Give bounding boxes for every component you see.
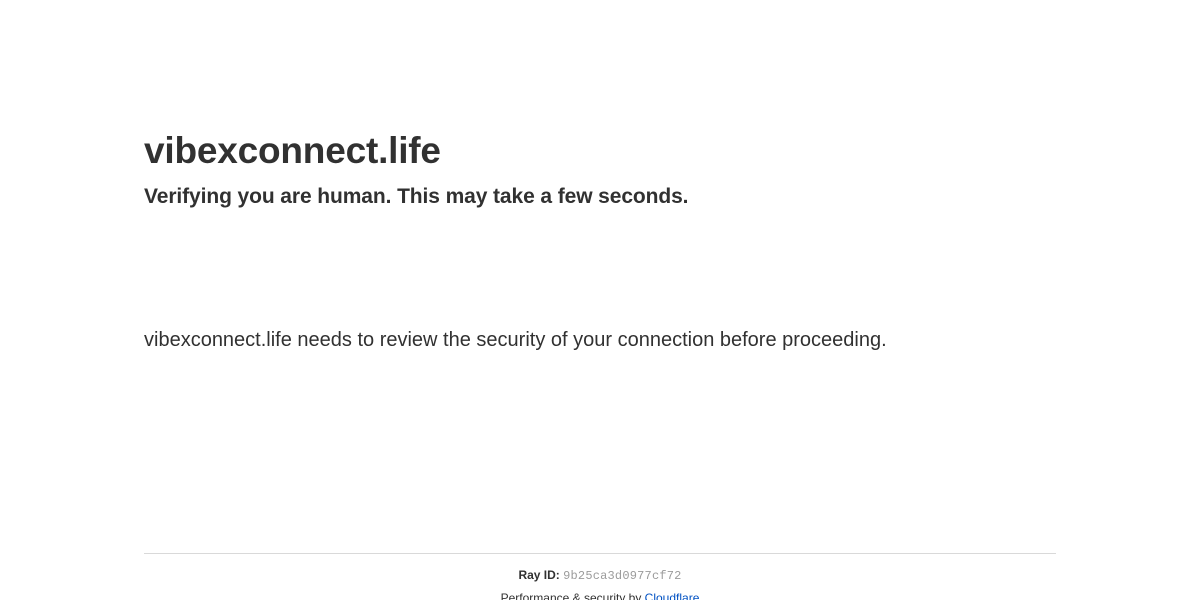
- challenge-body: vibexconnect.life needs to review the se…: [144, 322, 944, 358]
- content-column: vibexconnect.life Verifying you are huma…: [144, 0, 1056, 600]
- attribution-prefix: Performance & security by: [501, 591, 645, 600]
- challenge-widget-placeholder[interactable]: [144, 240, 454, 315]
- rayid-line: Ray ID: 9b25ca3d0977cf72: [144, 568, 1056, 584]
- page-title: vibexconnect.life: [144, 128, 1056, 174]
- challenge-explanation-text: vibexconnect.life needs to review the se…: [144, 322, 944, 358]
- verification-status-text: Verifying you are human. This may take a…: [144, 174, 1056, 212]
- cloudflare-link[interactable]: Cloudflare: [645, 591, 700, 600]
- page-footer: Ray ID: 9b25ca3d0977cf72 Performance & s…: [144, 553, 1056, 600]
- rayid-value: 9b25ca3d0977cf72: [563, 569, 681, 583]
- attribution-line: Performance & security by Cloudflare: [144, 591, 1056, 600]
- challenge-header: vibexconnect.life Verifying you are huma…: [144, 128, 1056, 212]
- rayid-label: Ray ID:: [518, 568, 559, 582]
- challenge-page: vibexconnect.life Verifying you are huma…: [0, 0, 1200, 600]
